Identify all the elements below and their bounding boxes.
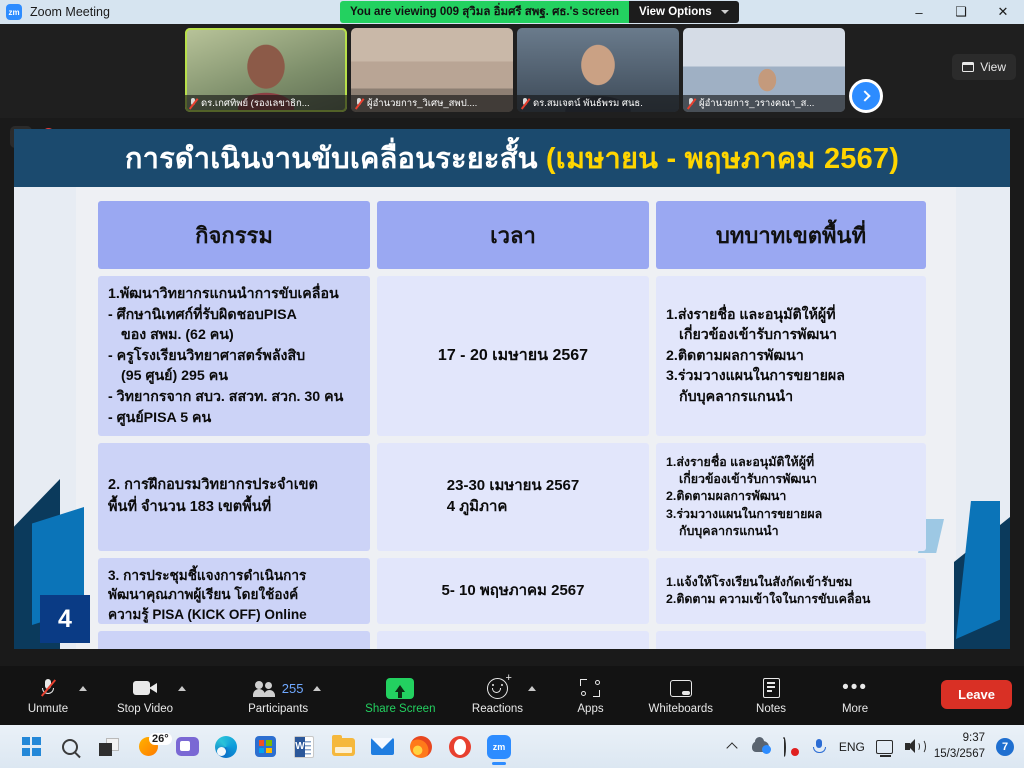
apps-icon: [580, 676, 600, 700]
weather-temperature: 26°: [149, 733, 172, 745]
window-title: Zoom Meeting: [30, 5, 110, 19]
taskbar-zoom-button[interactable]: zm: [486, 734, 512, 760]
microphone-muted-icon: [40, 676, 56, 700]
cell-role: 1.ส่งรายชื่อ และอนุมัติให้ผู้ที่เกี่ยวข้…: [656, 276, 926, 436]
chevron-down-icon: [721, 10, 729, 14]
participant-thumbnail[interactable]: ดร.เกศทิพย์ (รองเลขาธิก...: [185, 28, 347, 112]
stop-video-button[interactable]: Stop Video: [117, 666, 173, 725]
decor-right-blue: [956, 501, 1000, 639]
close-button[interactable]: ✕: [982, 0, 1024, 24]
search-icon: [62, 739, 78, 755]
mic-muted-icon: [520, 98, 530, 109]
apps-button[interactable]: Apps: [564, 666, 616, 725]
volume-tray-icon[interactable]: [905, 738, 923, 756]
onedrive-tray-icon[interactable]: [752, 738, 770, 756]
notification-badge[interactable]: 7: [996, 738, 1014, 756]
cell-time: [377, 631, 649, 649]
reactions-label: Reactions: [472, 703, 523, 715]
participants-count: 255: [282, 681, 304, 696]
taskbar-word-button[interactable]: [291, 734, 317, 760]
whiteboard-icon: [670, 676, 692, 700]
window-title-bar: zm Zoom Meeting You are viewing 009 สุวิ…: [0, 0, 1024, 24]
decor-right-panel: [956, 187, 1010, 649]
schedule-table: กิจกรรม เวลา บทบาทเขตพื้นที่ 1.พัฒนาวิทย…: [98, 201, 926, 649]
participant-name: ดร.สมเจตน์ พันธ์พรม ศนธ.: [533, 96, 643, 111]
window-buttons: – ❑ ✕: [898, 0, 1024, 24]
minimize-button[interactable]: –: [898, 0, 940, 24]
zoom-app-icon: [176, 737, 199, 756]
notes-icon: [763, 676, 780, 700]
word-icon: [294, 736, 314, 758]
participant-name-bar: ผู้อำนวยการ_วรางคณา_ส...: [683, 95, 845, 112]
decor-left-panel: [14, 187, 76, 649]
participant-thumbnail[interactable]: ดร.สมเจตน์ พันธ์พรม ศนธ.: [517, 28, 679, 112]
table-header-role: บทบาทเขตพื้นที่: [656, 201, 926, 269]
sync-icon: [782, 739, 798, 755]
video-options-chevron-icon[interactable]: [178, 686, 186, 691]
view-options-button[interactable]: View Options: [629, 1, 739, 23]
more-label: More: [842, 703, 868, 715]
participant-name-bar: ดร.เกศทิพย์ (รองเลขาธิก...: [185, 95, 347, 112]
thumbnail-list: ดร.เกศทิพย์ (รองเลขาธิก... ผู้อำนวยการ_ว…: [185, 28, 845, 112]
taskbar-zoom-legacy-button[interactable]: [174, 734, 200, 760]
cell-role: 1.ส่งรายชื่อ และอนุมัติให้ผู้ที่เกี่ยวข้…: [656, 443, 926, 551]
notes-label: Notes: [756, 703, 786, 715]
tray-expand-button[interactable]: [723, 738, 741, 756]
taskbar-icons: 26°: [18, 734, 512, 760]
cell-time: 23-30 เมษายน 25674 ภูมิภาค: [377, 443, 649, 551]
edge-icon: [215, 736, 237, 758]
time-text: 5- 10 พฤษภาคม 2567: [442, 581, 585, 602]
more-button[interactable]: ••• More: [829, 666, 881, 725]
table-row: 3. การประชุมชี้แจงการดำเนินการพัฒนาคุณภา…: [98, 558, 926, 624]
viewing-screen-label: You are viewing 009 สุวิมล อิ่มศรี สพฐ. …: [340, 1, 629, 23]
participant-name-bar: ดร.สมเจตน์ พันธ์พรม ศนธ.: [517, 95, 679, 112]
zoom-taskbar-icon: zm: [487, 735, 511, 759]
taskbar-edge-button[interactable]: [213, 734, 239, 760]
camera-icon: [133, 676, 157, 700]
mic-muted-icon: [188, 98, 198, 109]
cell-activity: 3. การประชุมชี้แจงการดำเนินการพัฒนาคุณภา…: [98, 558, 370, 624]
activity-text: 1.พัฒนาวิทยากรแกนนำการขับเคลื่อน- ศึกษาน…: [108, 284, 360, 428]
opera-icon: [449, 736, 471, 758]
cell-time: 5- 10 พฤษภาคม 2567: [377, 558, 649, 624]
taskbar-clock[interactable]: 9:37 15/3/2567: [934, 731, 985, 761]
next-page-button[interactable]: [849, 79, 883, 113]
volume-icon: [905, 739, 922, 754]
cell-activity: 1.พัฒนาวิทยากรแกนนำการขับเคลื่อน- ศึกษาน…: [98, 276, 370, 436]
table-header-time: เวลา: [377, 201, 649, 269]
microphone-tray-icon[interactable]: [810, 738, 828, 756]
role-text: 1.แจ้งให้โรงเรียนในสังกัดเข้ารับชม2.ติดต…: [666, 574, 870, 609]
maximize-button[interactable]: ❑: [940, 0, 982, 24]
view-button-label: View: [980, 60, 1006, 74]
role-text: 1.ส่งรายชื่อ และอนุมัติให้ผู้ที่เกี่ยวข้…: [666, 305, 845, 408]
zoom-meeting-window: zm Zoom Meeting You are viewing 009 สุวิ…: [0, 0, 1024, 768]
slide-number: 4: [40, 595, 90, 643]
weather-widget[interactable]: 26°: [135, 734, 161, 760]
share-screen-icon: [386, 676, 414, 700]
participant-name: ผู้อำนวยการ_วรางคณา_ส...: [699, 96, 814, 111]
taskbar-store-button[interactable]: [252, 734, 278, 760]
shared-screen-stage: Recording การดำเนินงานขับเคลื่อนระยะสั้น…: [0, 118, 1024, 666]
screen-share-banner: You are viewing 009 สุวิมล อิ่มศรี สพฐ. …: [340, 1, 739, 23]
activity-text: 2. การฝึกอบรมวิทยากรประจำเขตพื้นที่ จำนว…: [108, 475, 318, 519]
slide-title-text: การดำเนินงานขับเคลื่อนระยะสั้น (เมษายน -…: [125, 135, 899, 181]
whiteboards-button[interactable]: Whiteboards: [648, 666, 713, 725]
cell-activity: [98, 631, 370, 649]
system-tray: ENG 9:37 15/3/2567 7: [723, 731, 1014, 761]
zoom-logo-icon: zm: [6, 4, 22, 20]
participants-chevron-icon[interactable]: [313, 686, 321, 691]
participants-label: Participants: [248, 703, 308, 715]
microsoft-store-icon: [255, 736, 276, 757]
taskbar-firefox-button[interactable]: [408, 734, 434, 760]
firefox-icon: [410, 736, 432, 758]
share-screen-button[interactable]: Share Screen: [365, 666, 435, 725]
view-button[interactable]: View: [952, 54, 1016, 80]
task-view-icon: [99, 738, 119, 756]
cloud-icon: [752, 741, 769, 752]
participant-thumbnail[interactable]: ผู้อำนวยการ_วิเศษ_สพป....: [351, 28, 513, 112]
participant-filmstrip: ดร.เกศทิพย์ (รองเลขาธิก... ผู้อำนวยการ_ว…: [0, 24, 1024, 118]
task-view-button[interactable]: [96, 734, 122, 760]
grid-view-icon: [962, 62, 974, 72]
reactions-chevron-icon[interactable]: [528, 686, 536, 691]
view-options-label: View Options: [639, 6, 712, 18]
table-header-row: กิจกรรม เวลา บทบาทเขตพื้นที่: [98, 201, 926, 269]
slide-title-bar: การดำเนินงานขับเคลื่อนระยะสั้น (เมษายน -…: [14, 129, 1010, 187]
cell-role: 1.แจ้งให้โรงเรียนในสังกัดเข้ารับชม2.ติดต…: [656, 558, 926, 624]
leave-button[interactable]: Leave: [941, 680, 1012, 709]
unmute-label: Unmute: [28, 703, 68, 715]
start-button[interactable]: [18, 734, 44, 760]
windows-taskbar: 26°: [0, 725, 1024, 768]
table-row: [98, 631, 926, 649]
apps-label: Apps: [577, 703, 603, 715]
audio-options-chevron-icon[interactable]: [79, 686, 87, 691]
chevron-up-icon: [726, 742, 737, 753]
cell-time: 17 - 20 เมษายน 2567: [377, 276, 649, 436]
role-text: 1.ส่งรายชื่อ และอนุมัติให้ผู้ที่เกี่ยวข้…: [666, 454, 822, 541]
mail-icon: [371, 738, 394, 755]
stop-video-label: Stop Video: [117, 703, 173, 715]
cell-role: [656, 631, 926, 649]
clock-date: 15/3/2567: [934, 747, 985, 762]
participant-name: ดร.เกศทิพย์ (รองเลขาธิก...: [201, 96, 310, 111]
reactions-icon: +: [487, 676, 508, 700]
participant-name-bar: ผู้อำนวยการ_วิเศษ_สพป....: [351, 95, 513, 112]
time-text: 17 - 20 เมษายน 2567: [438, 345, 588, 367]
more-dots-icon: •••: [842, 676, 868, 700]
language-indicator[interactable]: ENG: [839, 740, 865, 754]
cell-activity: 2. การฝึกอบรมวิทยากรประจำเขตพื้นที่ จำนว…: [98, 443, 370, 551]
presentation-slide: การดำเนินงานขับเคลื่อนระยะสั้น (เมษายน -…: [14, 129, 1010, 649]
time-text: 23-30 เมษายน 25674 ภูมิภาค: [447, 476, 579, 517]
mic-muted-icon: [686, 98, 696, 109]
taskbar-opera-button[interactable]: [447, 734, 473, 760]
table-row: 2. การฝึกอบรมวิทยากรประจำเขตพื้นที่ จำนว…: [98, 443, 926, 551]
file-explorer-icon: [332, 738, 355, 756]
mic-muted-icon: [354, 98, 364, 109]
decor-right-navy: [954, 499, 1010, 649]
zoom-control-bar: Unmute Stop Video 255 Participants: [0, 666, 1024, 725]
whiteboards-label: Whiteboards: [648, 703, 713, 715]
unmute-button[interactable]: Unmute: [22, 666, 74, 725]
participant-thumbnail[interactable]: ผู้อำนวยการ_วรางคณา_ส...: [683, 28, 845, 112]
chevron-right-icon: [859, 90, 870, 101]
notes-button[interactable]: Notes: [745, 666, 797, 725]
participant-name: ผู้อำนวยการ_วิเศษ_สพป....: [367, 96, 477, 111]
network-tray-icon[interactable]: [876, 738, 894, 756]
clock-time: 9:37: [934, 731, 985, 746]
update-tray-icon[interactable]: [781, 738, 799, 756]
reactions-button[interactable]: + Reactions: [471, 666, 523, 725]
taskbar-search-button[interactable]: [57, 734, 83, 760]
participants-icon: 255: [253, 676, 304, 700]
network-icon: [876, 740, 893, 754]
windows-logo-icon: [22, 737, 41, 756]
taskbar-mail-button[interactable]: [369, 734, 395, 760]
activity-text: 3. การประชุมชี้แจงการดำเนินการพัฒนาคุณภา…: [108, 566, 360, 624]
taskbar-explorer-button[interactable]: [330, 734, 356, 760]
participants-button[interactable]: 255 Participants: [248, 666, 308, 725]
table-row: 1.พัฒนาวิทยากรแกนนำการขับเคลื่อน- ศึกษาน…: [98, 276, 926, 436]
microphone-icon: [813, 739, 824, 755]
table-header-activity: กิจกรรม: [98, 201, 370, 269]
share-screen-label: Share Screen: [365, 703, 435, 715]
